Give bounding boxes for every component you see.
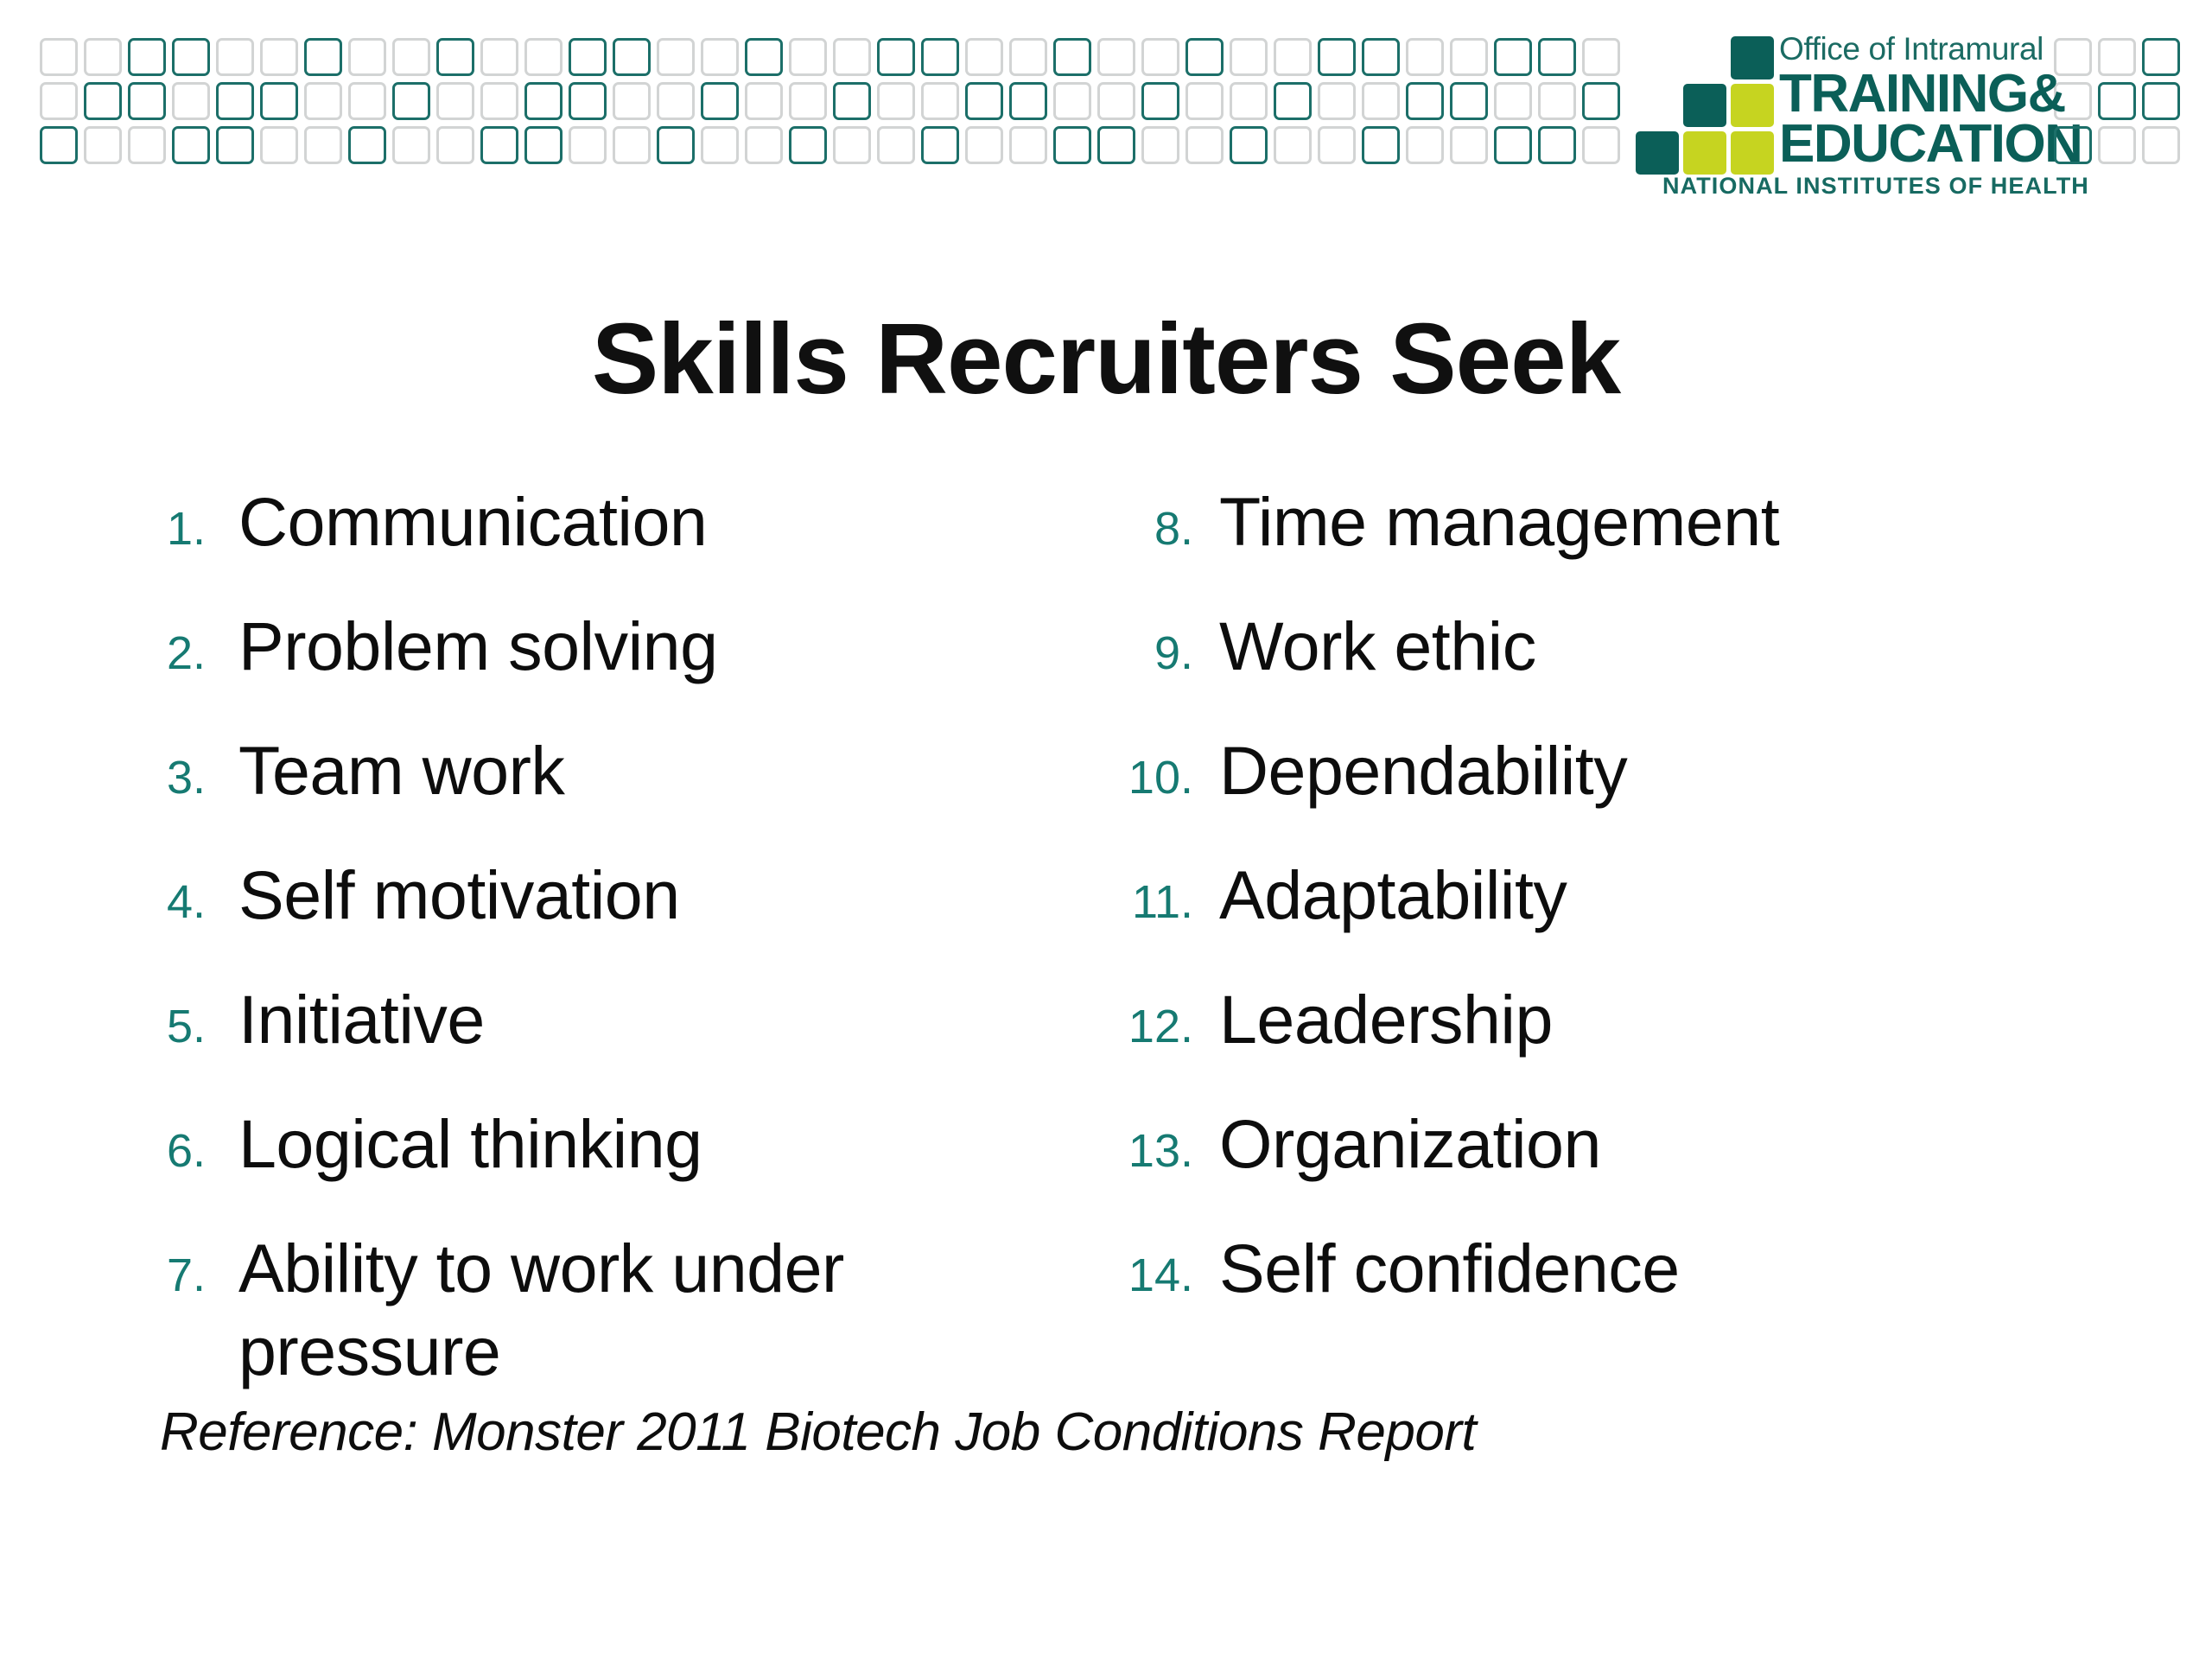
decorative-square xyxy=(1097,126,1135,164)
decorative-square xyxy=(2142,82,2180,120)
list-item-number: 8. xyxy=(1110,480,1193,569)
list-item-number: 13. xyxy=(1110,1103,1193,1191)
decorative-square xyxy=(1185,126,1224,164)
list-item-number: 3. xyxy=(138,729,206,817)
decorative-square xyxy=(524,126,563,164)
decorative-square xyxy=(877,38,915,76)
decorative-square xyxy=(1274,38,1312,76)
decorative-square xyxy=(1185,38,1224,76)
decorative-square xyxy=(657,126,695,164)
decorative-square xyxy=(216,126,254,164)
decorative-square xyxy=(216,82,254,120)
decorative-square xyxy=(480,38,518,76)
decorative-square xyxy=(1053,126,1091,164)
decorative-square xyxy=(1406,126,1444,164)
decorative-square xyxy=(657,38,695,76)
decorative-square xyxy=(480,82,518,120)
decorative-square xyxy=(2098,82,2136,120)
decorative-square xyxy=(701,126,739,164)
decorative-square xyxy=(40,38,78,76)
decorative-square xyxy=(877,82,915,120)
decorative-square xyxy=(789,38,827,76)
list-item-label: Dependability xyxy=(1219,729,1627,812)
decorative-square xyxy=(1450,126,1488,164)
list-item: 13.Organization xyxy=(1110,1103,2044,1191)
decorative-square xyxy=(216,38,254,76)
decorative-square xyxy=(569,82,607,120)
list-item-label: Organization xyxy=(1219,1103,1601,1185)
header-band: Office of Intramural TRAINING& EDUCATION… xyxy=(0,0,2212,216)
list-item-number: 2. xyxy=(138,605,206,693)
decorative-square xyxy=(1494,126,1532,164)
list-item: 6.Logical thinking xyxy=(138,1103,1063,1191)
decorative-square xyxy=(392,38,430,76)
decorative-square xyxy=(1230,126,1268,164)
decorative-square xyxy=(1318,126,1356,164)
list-item-label: Ability to work under pressure xyxy=(238,1227,1063,1393)
logo-mark-square xyxy=(1636,131,1679,175)
decorative-square xyxy=(392,82,430,120)
decorative-square xyxy=(921,126,959,164)
decorative-square xyxy=(833,126,871,164)
list-item: 5.Initiative xyxy=(138,978,1063,1066)
list-item: 3.Team work xyxy=(138,729,1063,817)
decorative-square xyxy=(1009,126,1047,164)
decorative-square xyxy=(1538,38,1576,76)
list-item: 4.Self motivation xyxy=(138,854,1063,942)
decorative-square xyxy=(1450,82,1488,120)
decorative-square xyxy=(260,126,298,164)
decorative-square xyxy=(657,82,695,120)
decorative-square xyxy=(524,82,563,120)
decorative-square xyxy=(172,82,210,120)
decorative-square xyxy=(84,38,122,76)
decorative-square xyxy=(921,82,959,120)
decorative-square xyxy=(524,38,563,76)
decorative-square xyxy=(921,38,959,76)
list-item-number: 12. xyxy=(1110,978,1193,1066)
list-item-number: 5. xyxy=(138,978,206,1066)
logo-mark-square xyxy=(1731,84,1774,127)
decorative-square xyxy=(40,126,78,164)
decorative-square xyxy=(436,82,474,120)
decorative-square xyxy=(348,82,386,120)
decorative-square xyxy=(789,82,827,120)
decorative-square xyxy=(1538,82,1576,120)
list-item: 10.Dependability xyxy=(1110,729,2044,817)
decorative-square xyxy=(1097,82,1135,120)
decorative-square xyxy=(1097,38,1135,76)
logo-staircase-mark xyxy=(1636,36,1774,175)
decorative-square xyxy=(1141,126,1179,164)
decorative-square xyxy=(1053,38,1091,76)
logo-mark-square xyxy=(1731,36,1774,79)
list-item-number: 7. xyxy=(138,1227,206,1315)
decorative-square xyxy=(128,82,166,120)
decorative-square xyxy=(613,126,651,164)
decorative-square xyxy=(1141,38,1179,76)
decorative-square xyxy=(348,38,386,76)
skills-list-left-column: 1.Communication2.Problem solving3.Team w… xyxy=(138,480,1063,1429)
decorative-square xyxy=(2142,126,2180,164)
decorative-square xyxy=(1230,82,1268,120)
decorative-square xyxy=(128,38,166,76)
decorative-square xyxy=(436,126,474,164)
list-item-number: 11. xyxy=(1110,854,1193,942)
decorative-square xyxy=(1582,126,1620,164)
decorative-square xyxy=(1141,82,1179,120)
decorative-square xyxy=(745,82,783,120)
decorative-square xyxy=(1450,38,1488,76)
page-title: Skills Recruiters Seek xyxy=(0,302,2212,415)
decorative-square-grid-left xyxy=(40,38,1656,173)
decorative-square xyxy=(569,38,607,76)
decorative-square xyxy=(613,38,651,76)
decorative-square xyxy=(1494,82,1532,120)
decorative-square xyxy=(745,126,783,164)
decorative-square xyxy=(1582,82,1620,120)
list-item-number: 14. xyxy=(1110,1227,1193,1315)
decorative-square xyxy=(965,38,1003,76)
decorative-square xyxy=(1406,38,1444,76)
decorative-square xyxy=(1538,126,1576,164)
decorative-square xyxy=(1318,82,1356,120)
list-item: 8.Time management xyxy=(1110,480,2044,569)
decorative-square xyxy=(40,82,78,120)
decorative-square xyxy=(789,126,827,164)
list-item-label: Time management xyxy=(1219,480,1779,563)
list-item: 2.Problem solving xyxy=(138,605,1063,693)
decorative-square xyxy=(833,82,871,120)
decorative-square xyxy=(1009,38,1047,76)
list-item-label: Self motivation xyxy=(238,854,680,937)
list-item-label: Adaptability xyxy=(1219,854,1567,937)
list-item-label: Leadership xyxy=(1219,978,1553,1061)
decorative-square xyxy=(1362,126,1400,164)
decorative-square xyxy=(260,82,298,120)
logo-office-line: Office of Intramural xyxy=(1779,31,2050,67)
list-item: 7.Ability to work under pressure xyxy=(138,1227,1063,1393)
decorative-square xyxy=(2142,38,2180,76)
decorative-square xyxy=(392,126,430,164)
list-item-label: Initiative xyxy=(238,978,485,1061)
decorative-square xyxy=(613,82,651,120)
list-item: 11.Adaptability xyxy=(1110,854,2044,942)
decorative-square xyxy=(1274,126,1312,164)
decorative-square xyxy=(84,82,122,120)
skills-list-right-column: 8.Time management9.Work ethic10.Dependab… xyxy=(1110,480,2044,1351)
list-item: 12.Leadership xyxy=(1110,978,2044,1066)
decorative-square xyxy=(569,126,607,164)
decorative-square xyxy=(1582,38,1620,76)
list-item-label: Self confidence xyxy=(1219,1227,1680,1310)
decorative-square xyxy=(877,126,915,164)
logo-wordmark: Office of Intramural TRAINING& EDUCATION xyxy=(1779,31,2050,169)
logo-mark-square xyxy=(1683,131,1726,175)
logo-mark-square xyxy=(1683,84,1726,127)
decorative-square-grid-right xyxy=(2054,38,2192,173)
logo-nih-line: NATIONAL INSTITUTES OF HEALTH xyxy=(1662,173,2089,200)
decorative-square xyxy=(1274,82,1312,120)
list-item-label: Problem solving xyxy=(238,605,718,688)
decorative-square xyxy=(2098,38,2136,76)
decorative-square xyxy=(965,82,1003,120)
decorative-square xyxy=(1185,82,1224,120)
list-item-label: Communication xyxy=(238,480,707,563)
list-item: 1.Communication xyxy=(138,480,1063,569)
decorative-square xyxy=(436,38,474,76)
list-item-label: Logical thinking xyxy=(238,1103,702,1185)
list-item-number: 4. xyxy=(138,854,206,942)
list-item-number: 1. xyxy=(138,480,206,569)
decorative-square xyxy=(833,38,871,76)
decorative-square xyxy=(1494,38,1532,76)
decorative-square xyxy=(128,126,166,164)
decorative-square xyxy=(2054,126,2092,164)
list-item-number: 6. xyxy=(138,1103,206,1191)
decorative-square xyxy=(965,126,1003,164)
list-item-number: 9. xyxy=(1110,605,1193,693)
decorative-square xyxy=(348,126,386,164)
list-item-label: Team work xyxy=(238,729,564,812)
logo-education-line: EDUCATION xyxy=(1779,119,2050,169)
decorative-square xyxy=(1230,38,1268,76)
reference-note: Reference: Monster 2011 Biotech Job Cond… xyxy=(160,1402,1476,1463)
decorative-square xyxy=(172,38,210,76)
decorative-square xyxy=(84,126,122,164)
decorative-square xyxy=(480,126,518,164)
decorative-square xyxy=(701,82,739,120)
decorative-square xyxy=(304,38,342,76)
logo-training-line: TRAINING& xyxy=(1779,69,2050,119)
list-item-number: 10. xyxy=(1110,729,1193,817)
decorative-square xyxy=(1318,38,1356,76)
list-item: 14.Self confidence xyxy=(1110,1227,2044,1315)
decorative-square xyxy=(304,82,342,120)
decorative-square xyxy=(745,38,783,76)
decorative-square xyxy=(304,126,342,164)
decorative-square xyxy=(1009,82,1047,120)
list-item: 9.Work ethic xyxy=(1110,605,2044,693)
decorative-square xyxy=(701,38,739,76)
decorative-square xyxy=(1362,38,1400,76)
decorative-square xyxy=(1406,82,1444,120)
decorative-square xyxy=(2098,126,2136,164)
decorative-square xyxy=(260,38,298,76)
logo-mark-square xyxy=(1731,131,1774,175)
decorative-square xyxy=(1362,82,1400,120)
list-item-label: Work ethic xyxy=(1219,605,1536,688)
decorative-square xyxy=(172,126,210,164)
decorative-square xyxy=(1053,82,1091,120)
